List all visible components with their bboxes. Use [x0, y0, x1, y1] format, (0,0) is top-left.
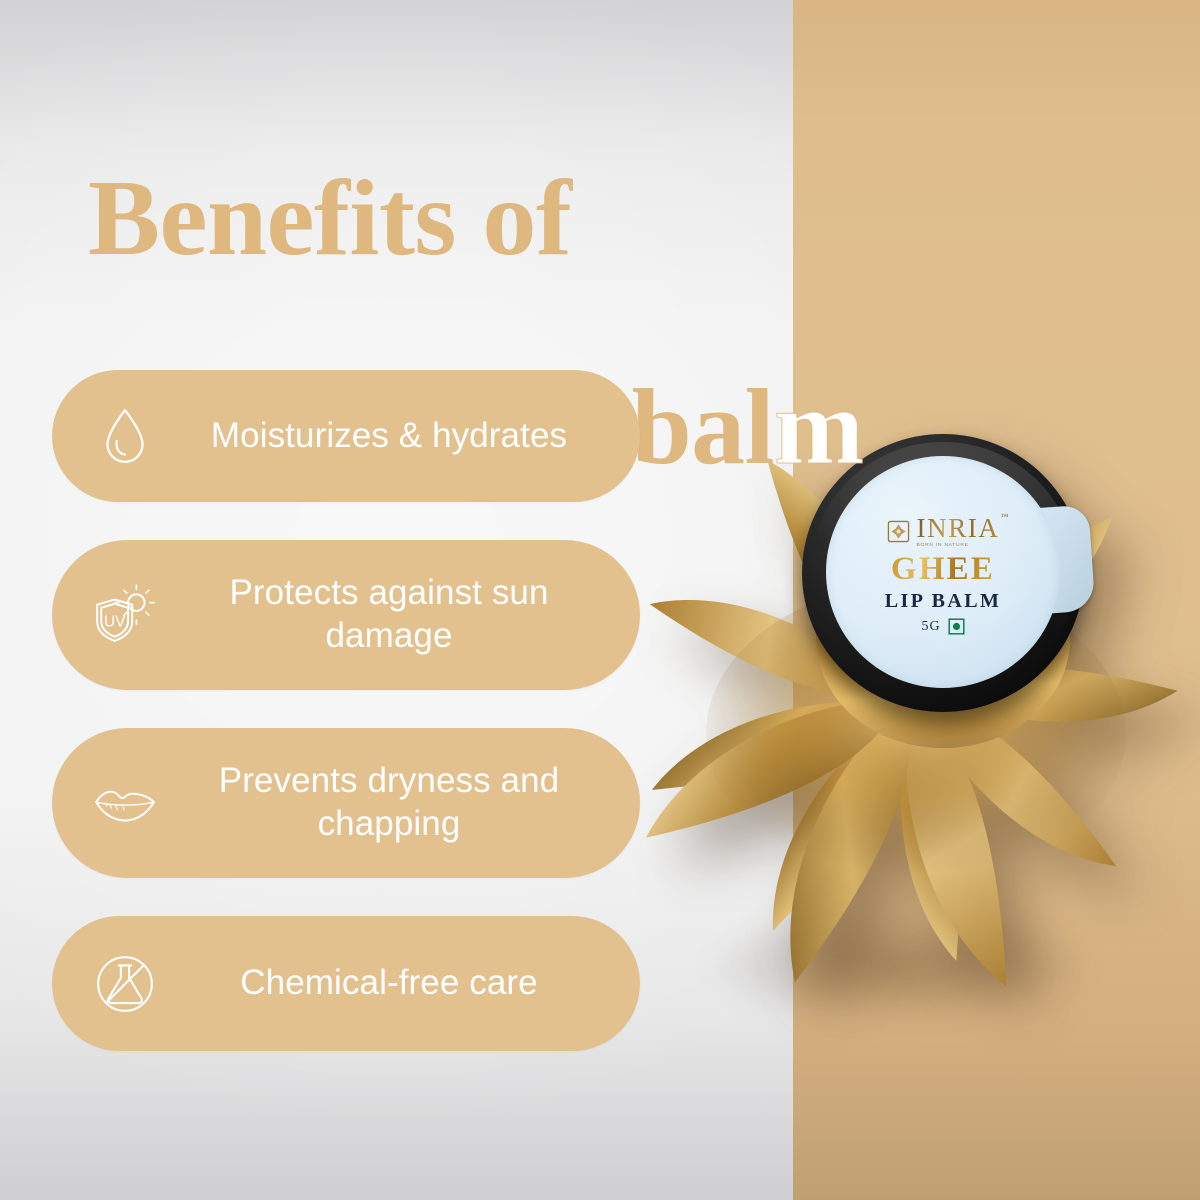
brand-trademark-icon: ™ — [1001, 513, 1009, 521]
poster-canvas: Benefits of Natural Lipbalm Moisturizes … — [0, 0, 1200, 1200]
benefit-label: Prevents dryness and chapping — [178, 760, 606, 845]
water-drop-icon — [86, 397, 164, 475]
benefit-item-prevents-dryness[interactable]: Prevents dryness and chapping — [52, 728, 640, 878]
green-veg-mark-icon — [948, 618, 965, 635]
net-weight-row: 5G — [921, 618, 964, 635]
benefit-label: Chemical-free care — [178, 962, 606, 1005]
svg-text:UV: UV — [104, 613, 126, 630]
no-chemicals-icon — [86, 945, 164, 1023]
product-type: LIP BALM — [885, 591, 1001, 611]
benefit-item-sun-protection[interactable]: UV Protects against sun damage — [52, 540, 640, 690]
benefit-item-moisturizes[interactable]: Moisturizes & hydrates — [52, 370, 640, 502]
uv-shield-icon: UV — [86, 576, 164, 654]
benefit-label: Moisturizes & hydrates — [178, 415, 606, 458]
title-line-2-spill: m — [774, 368, 863, 487]
title-line-1: Benefits of — [88, 167, 988, 272]
net-weight: 5G — [921, 619, 940, 635]
lips-icon — [86, 764, 164, 842]
benefits-list: Moisturizes & hydrates UV Protects — [52, 370, 640, 1051]
benefit-label: Protects against sun damage — [178, 572, 606, 657]
benefit-item-chemical-free[interactable]: Chemical-free care — [52, 916, 640, 1051]
